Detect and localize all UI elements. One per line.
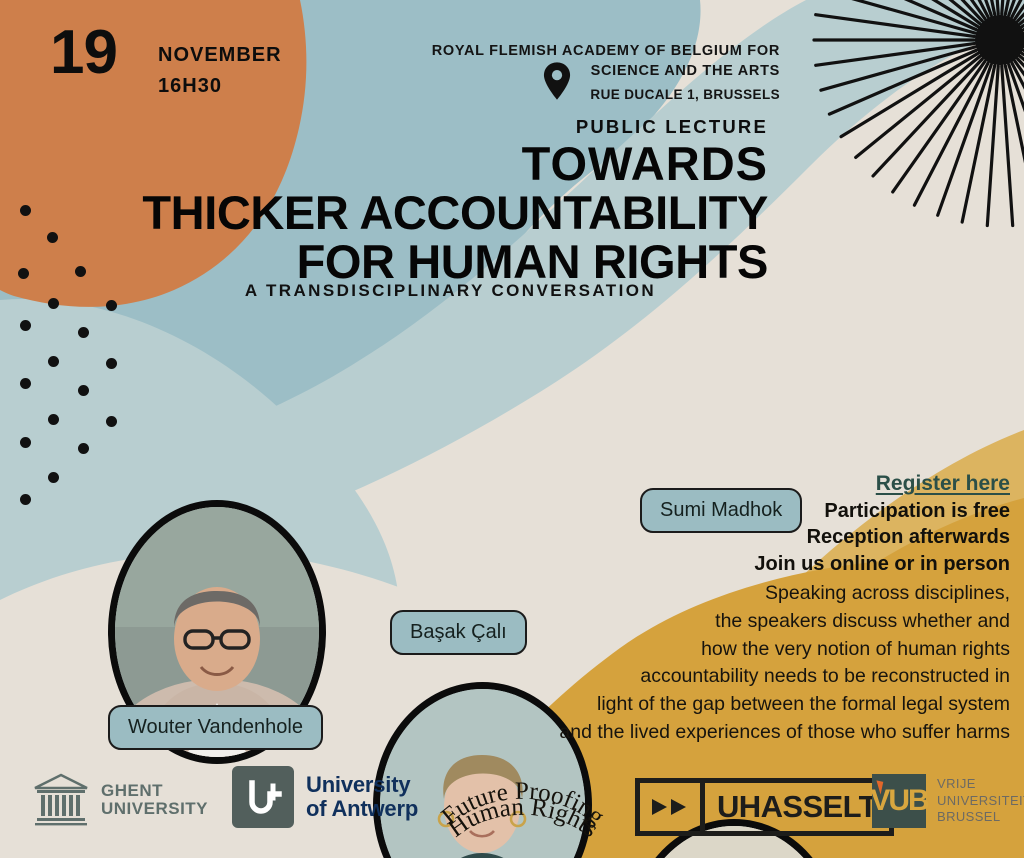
title-line-2: THICKER ACCOUNTABILITY	[68, 189, 768, 238]
ghent-line-2: UNIVERSITY	[101, 800, 208, 818]
event-time: 16H30	[158, 71, 282, 102]
dot	[20, 205, 31, 216]
event-poster: 19 NOVEMBER 16H30 ROYAL FLEMISH ACADEMY …	[0, 0, 1024, 858]
kicker-label: PUBLIC LECTURE	[576, 116, 768, 138]
dot	[106, 300, 117, 311]
info-block: Register here Participation is free Rece…	[490, 472, 1010, 746]
info-body-line-3: how the very notion of human rights	[490, 636, 1010, 664]
ghent-university-label: GHENT UNIVERSITY	[101, 782, 208, 819]
double-arrow-glyph	[650, 797, 690, 817]
info-body-line-2: the speakers discuss whether and	[490, 608, 1010, 636]
logo-university-of-antwerp: University of Antwerp	[232, 766, 418, 828]
dot	[48, 356, 59, 367]
double-arrow-icon	[640, 783, 705, 831]
info-body: Speaking across disciplines, the speaker…	[490, 580, 1010, 746]
event-day: 19	[50, 22, 117, 84]
starburst-icon	[810, 0, 1024, 230]
dot	[20, 320, 31, 331]
starburst-core	[975, 15, 1024, 65]
info-body-line-4: accountability needs to be reconstructed…	[490, 663, 1010, 691]
vub-line-2: UNIVERSITEIT	[937, 793, 1024, 810]
register-link[interactable]: Register here	[490, 472, 1010, 496]
dot	[48, 414, 59, 425]
vub-label: VRIJE UNIVERSITEIT BRUSSEL	[937, 776, 1024, 826]
speaker-name-badge-wouter-vandenhole: Wouter Vandenhole	[108, 705, 323, 750]
subtitle: A TRANSDISCIPLINARY CONVERSATION	[245, 281, 656, 301]
uhasselt-label: UHASSELT	[705, 783, 889, 831]
ghent-line-1: GHENT	[101, 782, 208, 800]
info-body-line-6: and the lived experiences of those who s…	[490, 719, 1010, 747]
event-month: NOVEMBER	[158, 40, 282, 71]
vub-line-1: VRIJE	[937, 776, 1024, 793]
dot	[48, 472, 59, 483]
ua-monogram-icon	[232, 766, 294, 828]
vub-mark-icon: VUB	[872, 774, 926, 828]
ua-glyph	[242, 776, 284, 818]
logo-uhasselt: UHASSELT	[635, 778, 894, 836]
location-pin-icon	[543, 62, 571, 100]
dot	[47, 232, 58, 243]
dot	[18, 268, 29, 279]
uhasselt-box: UHASSELT	[635, 778, 894, 836]
logo-ghent-university: GHENT UNIVERSITY	[32, 772, 208, 828]
dot	[78, 385, 89, 396]
dot	[20, 494, 31, 505]
logo-vub: VUB VRIJE UNIVERSITEIT BRUSSEL	[872, 774, 1024, 828]
logo-future-proofing-human-rights: Future Proofing Human Rights	[428, 764, 618, 856]
title-line-1: TOWARDS	[68, 140, 768, 189]
info-body-line-5: light of the gap between the formal lega…	[490, 691, 1010, 719]
title-line-3: FOR HUMAN RIGHTS	[68, 238, 768, 287]
vub-line-3: BRUSSEL	[937, 809, 1024, 826]
dot	[78, 443, 89, 454]
classical-building-icon	[32, 772, 90, 828]
dot	[106, 358, 117, 369]
dot	[106, 416, 117, 427]
page-title: TOWARDS THICKER ACCOUNTABILITY FOR HUMAN…	[68, 140, 768, 287]
antwerp-line-1: University	[306, 773, 418, 797]
event-date-detail: NOVEMBER 16H30	[158, 40, 282, 102]
dot	[20, 437, 31, 448]
antwerp-line-2: of Antwerp	[306, 797, 418, 821]
logo-bar: GHENT UNIVERSITY University of Antwerp	[0, 760, 1024, 858]
dot	[48, 298, 59, 309]
antwerp-label: University of Antwerp	[306, 773, 418, 821]
venue-block: ROYAL FLEMISH ACADEMY OF BELGIUM FOR SCI…	[370, 42, 780, 102]
dot	[20, 378, 31, 389]
info-bold-line-2: Reception afterwards	[490, 524, 1010, 550]
starburst-decoration	[810, 0, 1024, 230]
info-body-line-1: Speaking across disciplines,	[490, 580, 1010, 608]
fphr-curved-text: Future Proofing Human Rights	[428, 764, 618, 856]
venue-line-2: SCIENCE AND THE ARTS	[370, 62, 780, 82]
dot	[78, 327, 89, 338]
venue-line-1: ROYAL FLEMISH ACADEMY OF BELGIUM FOR	[370, 42, 780, 62]
venue-address: RUE DUCALE 1, BRUSSELS	[370, 87, 780, 102]
info-bold-line-1: Participation is free	[490, 498, 1010, 524]
info-bold-line-3: Join us online or in person	[490, 551, 1010, 577]
